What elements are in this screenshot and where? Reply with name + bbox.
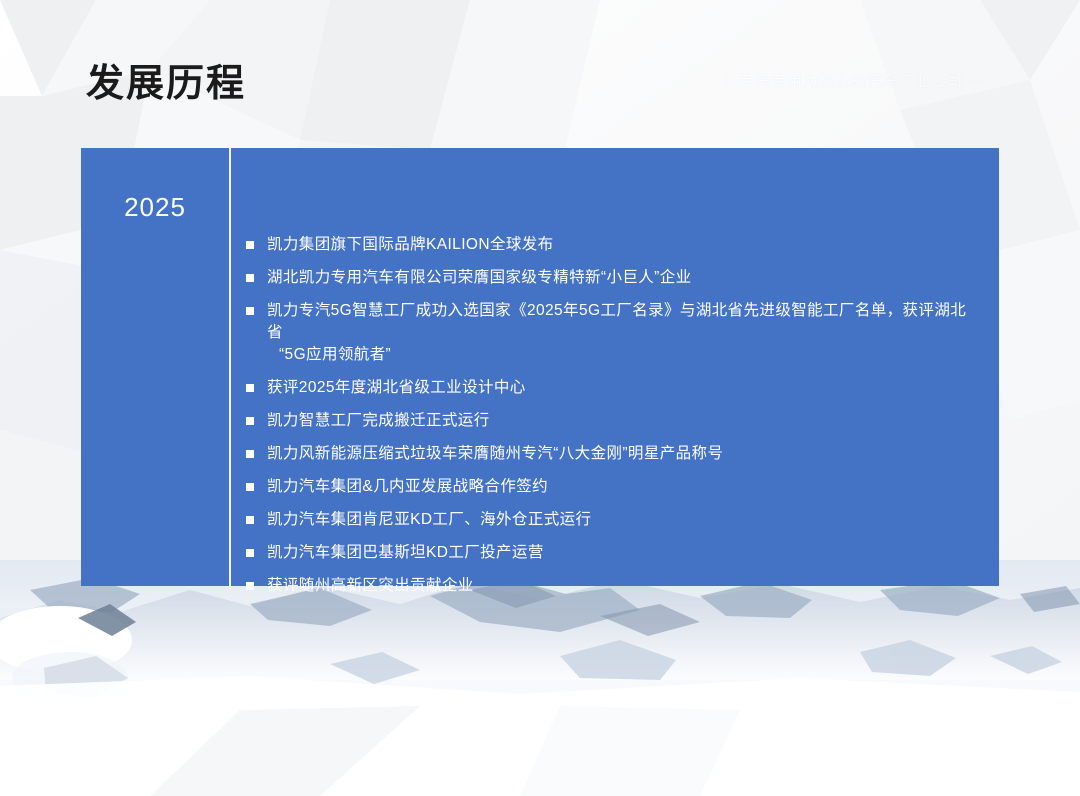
list-item: 获评2025年度湖北省级工业设计中心 <box>246 377 975 399</box>
list-item-text-continued: “5G应用领航者” <box>267 344 975 366</box>
bullet-square-icon <box>246 483 254 491</box>
list-item: 凯力风新能源压缩式垃圾车荣膺随州专汽“八大金刚”明星产品称号 <box>246 443 975 465</box>
list-item: 凯力汽车集团肯尼亚KD工厂、海外仓正式运行 <box>246 509 975 531</box>
bullet-square-icon <box>246 307 254 315</box>
list-item: 凯力智慧工厂完成搬迁正式运行 <box>246 410 975 432</box>
achievement-list: 凯力集团旗下国际品牌KAILION全球发布 湖北凯力专用汽车有限公司荣膺国家级专… <box>246 234 975 597</box>
list-item-text: 凯力智慧工厂完成搬迁正式运行 <box>267 412 490 429</box>
bullet-square-icon <box>246 549 254 557</box>
list-item-text: 获评随州高新区突出贡献企业 <box>267 577 474 594</box>
bullet-square-icon <box>246 450 254 458</box>
list-item-text: 凯力专汽5G智慧工厂成功入选国家《2025年5G工厂名录》与湖北省先进级智能工厂… <box>267 302 966 341</box>
bullet-square-icon <box>246 241 254 249</box>
list-item-text: 凯力集团旗下国际品牌KAILION全球发布 <box>267 236 554 253</box>
timeline-year-column: 2025 <box>81 148 229 586</box>
list-item-text: 凯力汽车集团肯尼亚KD工厂、海外仓正式运行 <box>267 511 591 528</box>
list-item-text: 获评2025年度湖北省级工业设计中心 <box>267 379 526 396</box>
bullet-square-icon <box>246 384 254 392</box>
list-item: 凯力专汽5G智慧工厂成功入选国家《2025年5G工厂名录》与湖北省先进级智能工厂… <box>246 300 975 366</box>
list-item-text: 湖北凯力专用汽车有限公司荣膺国家级专精特新“小巨人”企业 <box>267 269 692 286</box>
page-title: 发展历程 <box>86 52 246 107</box>
list-item: 凯力汽车集团巴基斯坦KD工厂投产运营 <box>246 542 975 564</box>
list-item: 获评随州高新区突出贡献企业 <box>246 575 975 597</box>
timeline-year-label: 2025 <box>124 194 186 586</box>
bullet-square-icon <box>246 582 254 590</box>
bullet-square-icon <box>246 516 254 524</box>
corner-watermark: 以专汽专用为核心的汽车工业公司 — <box>723 70 984 91</box>
list-item-text: 凯力风新能源压缩式垃圾车荣膺随州专汽“八大金刚”明星产品称号 <box>267 445 723 462</box>
list-item-text: 凯力汽车集团巴基斯坦KD工厂投产运营 <box>267 544 544 561</box>
list-item-text: 凯力汽车集团&几内亚发展战略合作签约 <box>267 478 548 495</box>
timeline-panel: 2025 凯力集团旗下国际品牌KAILION全球发布 湖北凯力专用汽车有限公司荣… <box>81 148 999 586</box>
slide-root: 发展历程 以专汽专用为核心的汽车工业公司 — 2025 凯力集团旗下国际品牌KA… <box>0 0 1080 796</box>
list-item: 凯力集团旗下国际品牌KAILION全球发布 <box>246 234 975 256</box>
timeline-content-column: 凯力集团旗下国际品牌KAILION全球发布 湖北凯力专用汽车有限公司荣膺国家级专… <box>231 148 999 586</box>
list-item: 凯力汽车集团&几内亚发展战略合作签约 <box>246 476 975 498</box>
bullet-square-icon <box>246 417 254 425</box>
bullet-square-icon <box>246 274 254 282</box>
list-item: 湖北凯力专用汽车有限公司荣膺国家级专精特新“小巨人”企业 <box>246 267 975 289</box>
